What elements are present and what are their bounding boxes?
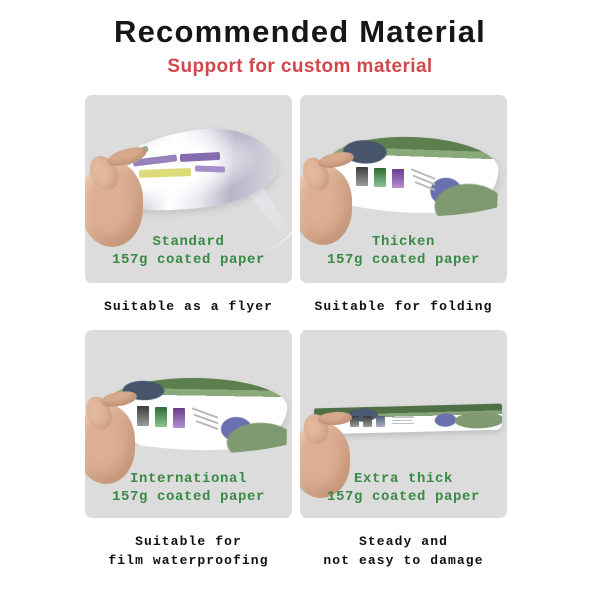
material-cell-thicken: Thicken 157g coated paper Suitable for f…: [300, 95, 507, 316]
material-card-extra-thick[interactable]: Extra thick 157g coated paper: [300, 330, 507, 518]
caption-line-2: film waterproofing: [85, 551, 292, 570]
caption-line-1: Steady and: [300, 532, 507, 551]
caption-line-1: Suitable as a flyer: [85, 297, 292, 316]
brochure-text-line-icon: [392, 423, 414, 424]
brochure-swatch-icon: [376, 416, 385, 427]
material-card-thicken[interactable]: Thicken 157g coated paper: [300, 95, 507, 283]
material-label-international: International 157g coated paper: [85, 470, 292, 506]
material-cell-standard: Standard 157g coated paper Suitable as a…: [85, 95, 292, 316]
material-card-international[interactable]: International 157g coated paper: [85, 330, 292, 518]
material-caption-extra-thick: Steady and not easy to damage: [300, 532, 507, 570]
caption-line-1: Suitable for folding: [300, 297, 507, 316]
material-weight: 157g coated paper: [85, 488, 292, 506]
brochure-swatch-icon: [356, 167, 368, 186]
material-label-standard: Standard 157g coated paper: [85, 233, 292, 269]
page-title: Recommended Material: [0, 13, 600, 51]
material-showcase-page: Recommended Material Support for custom …: [0, 0, 600, 600]
material-cell-international: International 157g coated paper Suitable…: [85, 330, 292, 570]
material-caption-standard: Suitable as a flyer: [85, 297, 292, 316]
material-card-standard[interactable]: Standard 157g coated paper: [85, 95, 292, 283]
brochure-swatch-icon: [173, 408, 185, 428]
brochure-swatch-icon: [137, 406, 149, 426]
brochure-swatch-icon: [374, 168, 386, 187]
brochure-text-line-icon: [392, 417, 414, 418]
brochure-swatch-icon: [392, 169, 404, 188]
material-cell-extra-thick: Extra thick 157g coated paper Steady and…: [300, 330, 507, 570]
material-label-thicken: Thicken 157g coated paper: [300, 233, 507, 269]
material-weight: 157g coated paper: [85, 251, 292, 269]
material-weight: 157g coated paper: [300, 488, 507, 506]
material-caption-thicken: Suitable for folding: [300, 297, 507, 316]
material-caption-international: Suitable for film waterproofing: [85, 532, 292, 570]
brochure-text-line-icon: [392, 420, 412, 421]
material-name: Extra thick: [300, 470, 507, 488]
brochure-color-strip-icon: [195, 165, 225, 172]
caption-line-1: Suitable for: [85, 532, 292, 551]
material-weight: 157g coated paper: [300, 251, 507, 269]
material-name: Standard: [85, 233, 292, 251]
page-subtitle: Support for custom material: [0, 54, 600, 80]
caption-line-2: not easy to damage: [300, 551, 507, 570]
material-card-grid: Standard 157g coated paper Suitable as a…: [85, 95, 515, 570]
brochure-swatch-icon: [363, 416, 372, 427]
brochure-swatch-icon: [155, 407, 167, 427]
material-label-extra-thick: Extra thick 157g coated paper: [300, 470, 507, 506]
page-header: Recommended Material Support for custom …: [0, 0, 600, 80]
material-name: Thicken: [300, 233, 507, 251]
material-name: International: [85, 470, 292, 488]
